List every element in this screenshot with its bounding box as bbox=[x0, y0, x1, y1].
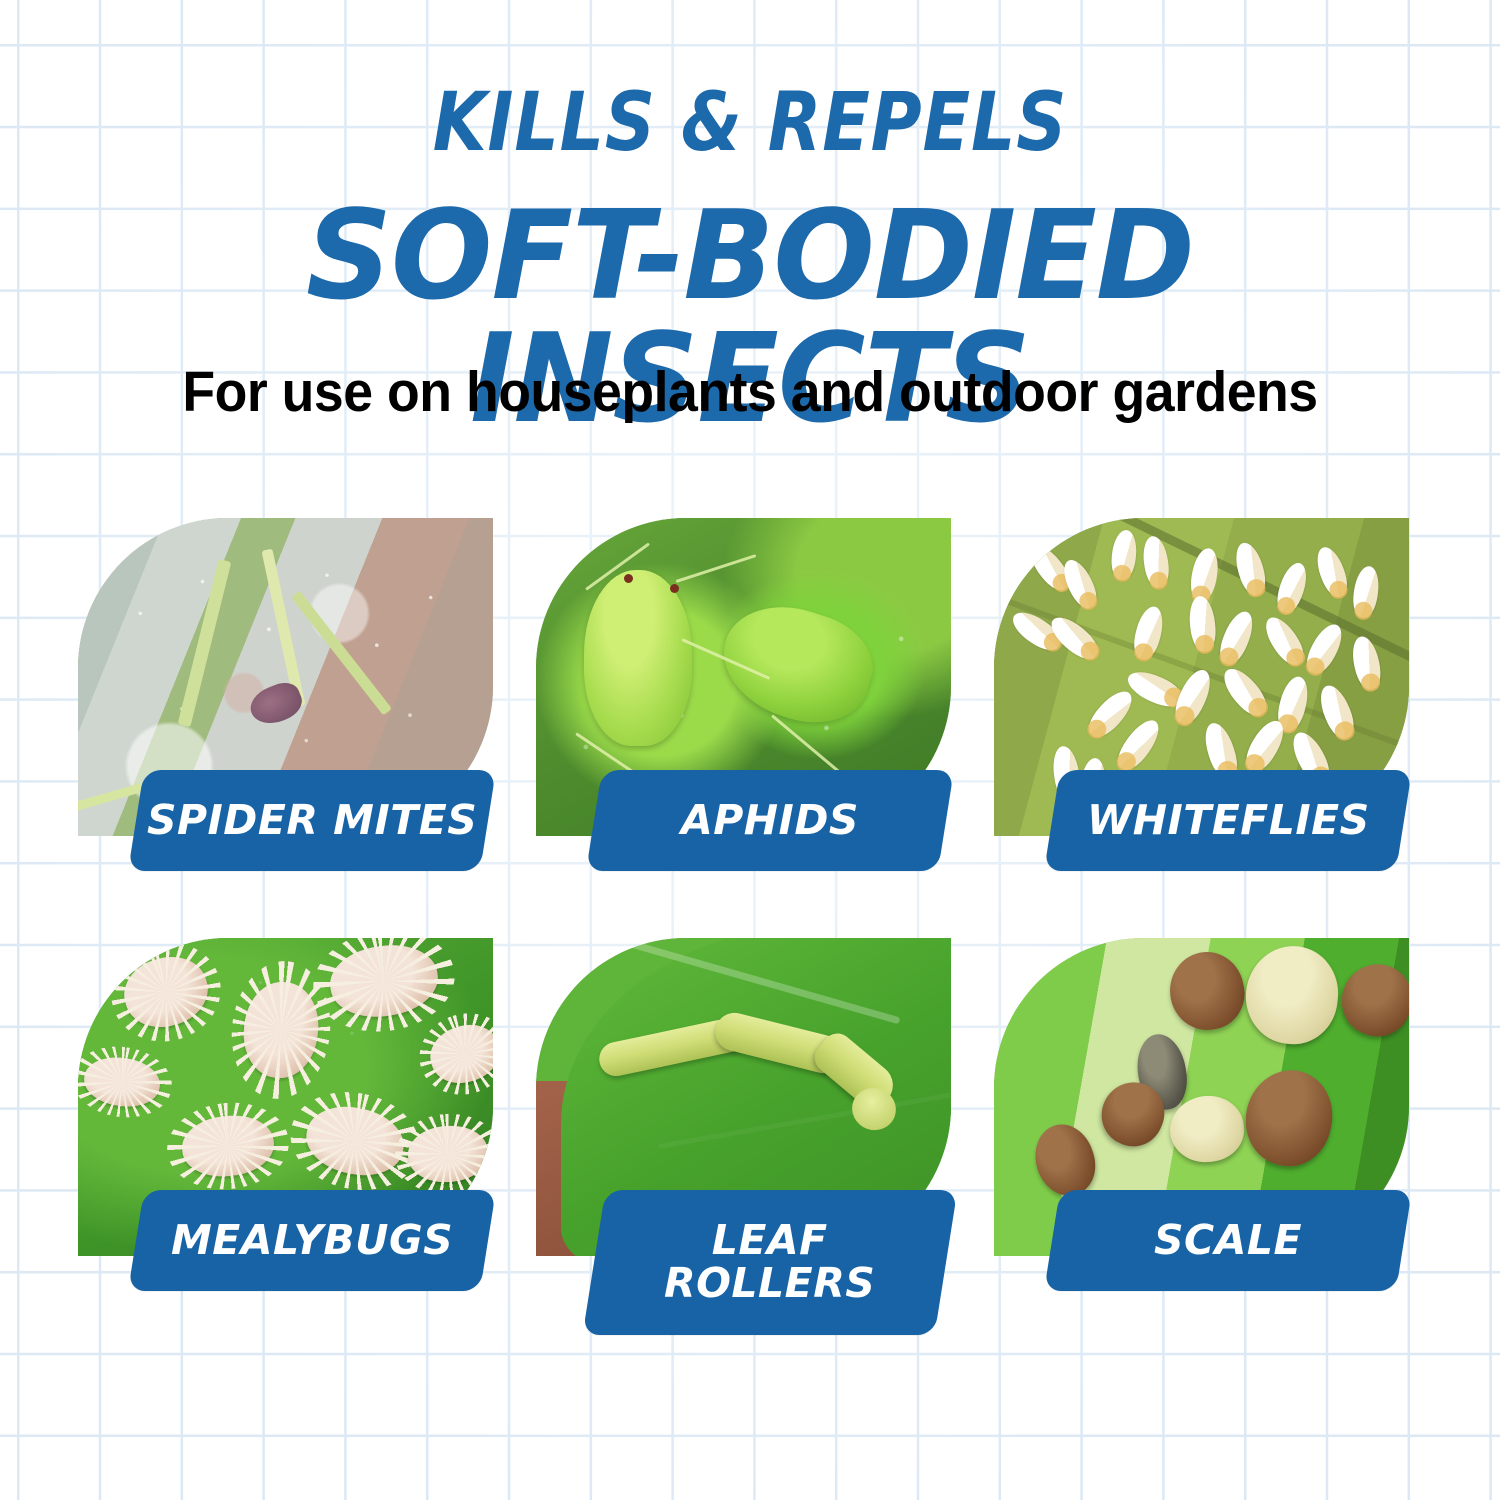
mealybug bbox=[406, 1123, 490, 1184]
pest-card-mealybugs[interactable]: MEALYBUGS bbox=[78, 938, 493, 1293]
pest-card-whiteflies[interactable]: WHITEFLIES bbox=[994, 518, 1409, 873]
pest-label-banner-scale: SCALE bbox=[1044, 1190, 1412, 1291]
mealybug bbox=[326, 939, 443, 1023]
pest-label-mealybugs: MEALYBUGS bbox=[171, 1219, 453, 1262]
pest-card-leaf-rollers[interactable]: LEAF ROLLERS bbox=[536, 938, 951, 1338]
pest-card-grid: SPIDER MITES APHIDS bbox=[0, 0, 1500, 1500]
pest-label-spider-mites: SPIDER MITES bbox=[147, 799, 477, 842]
pest-card-spider-mites[interactable]: SPIDER MITES bbox=[78, 518, 493, 873]
pest-label-leaf-rollers: LEAF ROLLERS bbox=[664, 1219, 875, 1306]
mealybug bbox=[81, 1053, 163, 1111]
pest-label-banner-spider-mites: SPIDER MITES bbox=[128, 770, 496, 871]
pest-card-aphids[interactable]: APHIDS bbox=[536, 518, 951, 873]
mealybug bbox=[179, 1111, 277, 1180]
infographic-page: KILLS & REPELS SOFT-BODIED INSECTS For u… bbox=[0, 0, 1500, 1500]
pest-card-scale[interactable]: SCALE bbox=[994, 938, 1409, 1293]
aphid-eye bbox=[624, 574, 633, 583]
pest-label-banner-aphids: APHIDS bbox=[586, 770, 954, 871]
mealybug bbox=[300, 1099, 410, 1184]
pest-label-aphids: APHIDS bbox=[681, 799, 859, 842]
pest-label-banner-leaf-rollers: LEAF ROLLERS bbox=[583, 1190, 958, 1335]
aphid-body bbox=[584, 570, 692, 746]
mealybug bbox=[239, 978, 323, 1081]
pest-label-whiteflies: WHITEFLIES bbox=[1087, 799, 1370, 842]
aphid-eye bbox=[670, 584, 679, 593]
mealybug bbox=[423, 1017, 493, 1092]
pest-label-scale: SCALE bbox=[1154, 1219, 1302, 1262]
pest-label-banner-mealybugs: MEALYBUGS bbox=[128, 1190, 496, 1291]
mealybug bbox=[116, 948, 215, 1037]
pest-label-banner-whiteflies: WHITEFLIES bbox=[1044, 770, 1412, 871]
